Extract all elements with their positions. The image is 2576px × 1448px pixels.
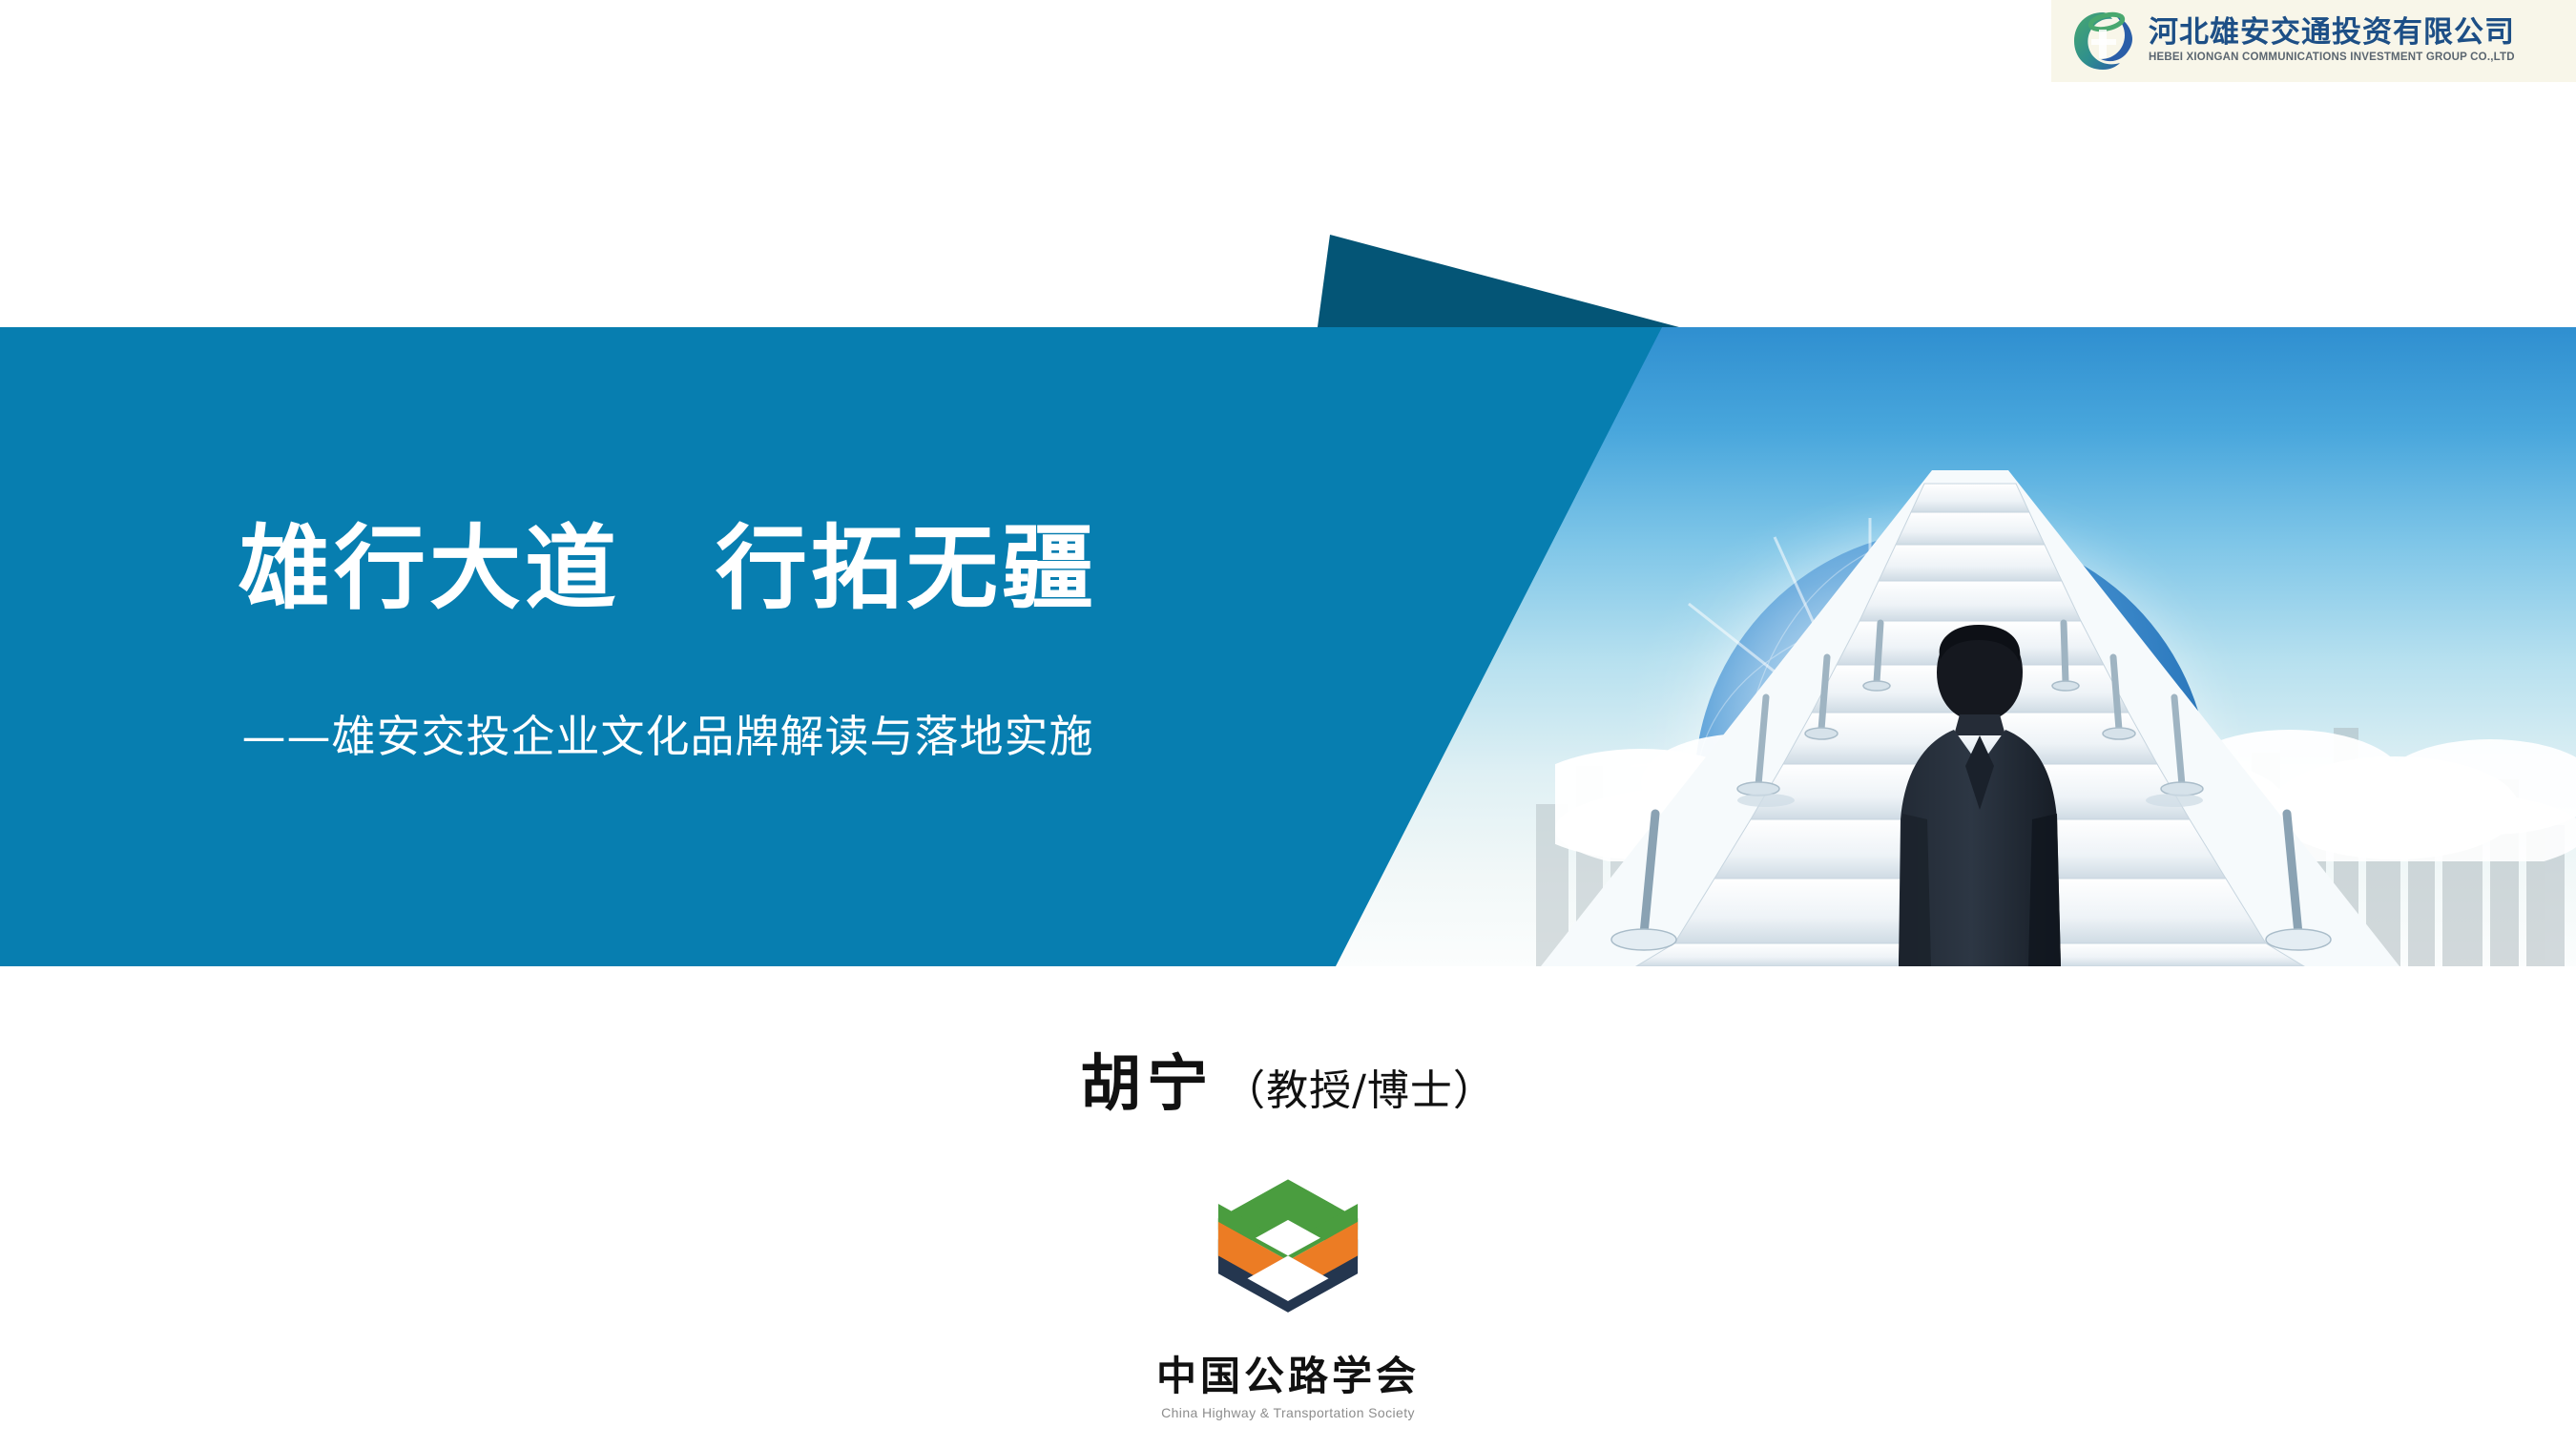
hero-title-block: 雄行大道 行拓无疆 ——雄安交投企业文化品牌解读与落地实施	[0, 327, 1336, 966]
presenter-credentials: （教授/博士）	[1223, 1066, 1496, 1115]
corporate-name-en: HEBEI XIONGAN COMMUNICATIONS INVESTMENT …	[2149, 52, 2515, 65]
hero-banner: 雄行大道 行拓无疆 ——雄安交投企业文化品牌解读与落地实施	[0, 327, 2576, 966]
presenter-line: 胡宁（教授/博士）	[0, 1035, 2576, 1123]
presenter-name: 胡宁	[1080, 1048, 1214, 1120]
society-name-cn: 中国公路学会	[1156, 1344, 1420, 1402]
page-subtitle: ——雄安交投企业文化品牌解读与落地实施	[242, 702, 1094, 765]
hexagon-cube-icon	[1207, 1171, 1369, 1338]
society-name-en: China Highway & Transportation Society	[1161, 1405, 1415, 1420]
corporate-name-cn: 河北雄安交通投资有限公司	[2149, 17, 2515, 49]
businessman-silhouette	[1860, 623, 2099, 966]
page-title: 雄行大道 行拓无疆	[239, 519, 1097, 620]
presentation-slide: 河北雄安交通投资有限公司 HEBEI XIONGAN COMMUNICATION…	[0, 0, 2576, 1448]
accent-wedge-shape	[1317, 229, 1679, 334]
corporate-logo-text: 河北雄安交通投资有限公司 HEBEI XIONGAN COMMUNICATION…	[2149, 17, 2515, 64]
globe-swoosh-icon	[2068, 7, 2137, 75]
society-logo: 中国公路学会 China Highway & Transportation So…	[1126, 1171, 1450, 1420]
corporate-logo-band: 河北雄安交通投资有限公司 HEBEI XIONGAN COMMUNICATION…	[2051, 0, 2576, 82]
